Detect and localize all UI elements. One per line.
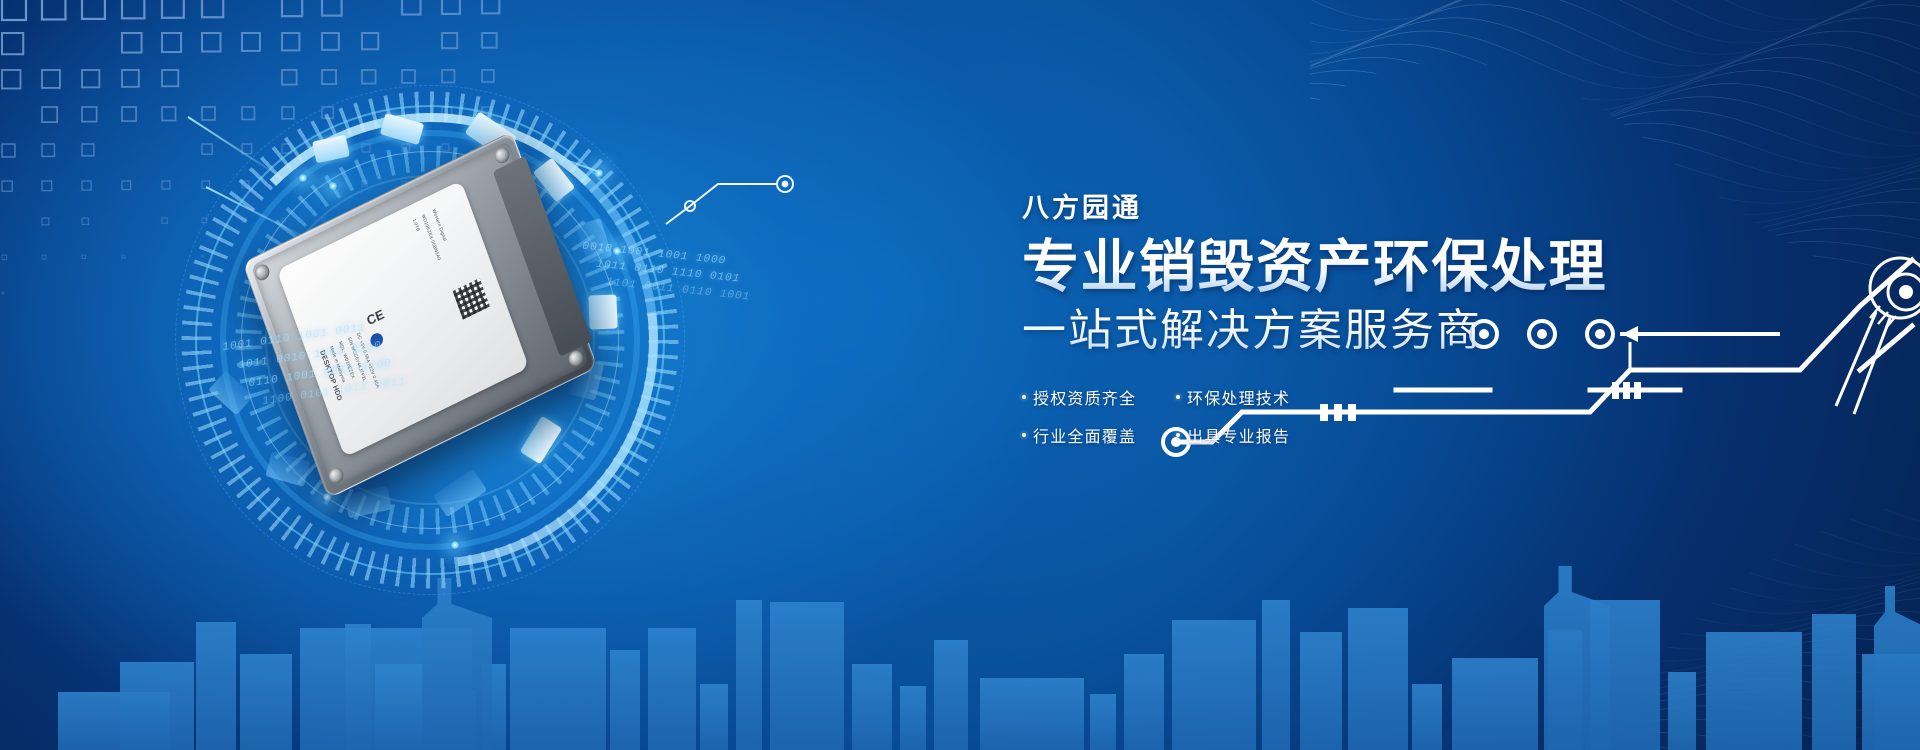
list-item: 授权资质齐全: [1022, 385, 1154, 409]
list-item: 行业全面覆盖: [1022, 423, 1154, 447]
hud-spark: [298, 173, 308, 183]
bullet-label: 授权资质齐全: [1033, 385, 1136, 409]
connector-node-dot: [782, 181, 789, 188]
connector-line-graphic: [660, 172, 840, 232]
list-item: 环保处理技术: [1176, 385, 1308, 409]
banner-copy-block: 八方园通 专业销毁资产环保处理 一站式解决方案服务商 授权资质齐全 环保处理技术…: [1022, 186, 1662, 447]
feature-bullet-list: 授权资质齐全 环保处理技术 行业全面覆盖 出具专业报告: [1022, 385, 1662, 447]
hdd-ce-mark: CE: [365, 306, 386, 328]
bullet-dot-icon: [1022, 433, 1026, 437]
hud-spark: [328, 181, 338, 191]
hdd-qr-code: [453, 278, 490, 319]
bullet-dot-icon: [1176, 433, 1180, 437]
headline: 专业销毁资产环保处理: [1022, 237, 1662, 299]
bullet-label: 行业全面覆盖: [1033, 423, 1136, 447]
promo-banner: Western Digital WD10EZEX-00BN5A0 1.0TB D…: [0, 0, 1920, 750]
bullet-label: 出具专业报告: [1187, 423, 1290, 447]
bullet-label: 环保处理技术: [1187, 385, 1290, 409]
brand-name: 八方园通: [1022, 186, 1662, 225]
hud-block: [588, 295, 617, 330]
bullet-dot-icon: [1176, 395, 1180, 399]
hud-spark: [594, 168, 604, 178]
hdd-label-line: 1.0TB: [412, 218, 421, 232]
list-item: 出具专业报告: [1176, 423, 1308, 447]
circuit-node-right-graphic: [1828, 246, 1920, 416]
bullet-dot-icon: [1022, 395, 1026, 399]
subheadline: 一站式解决方案服务商: [1022, 307, 1662, 355]
hud-spark: [450, 540, 460, 550]
